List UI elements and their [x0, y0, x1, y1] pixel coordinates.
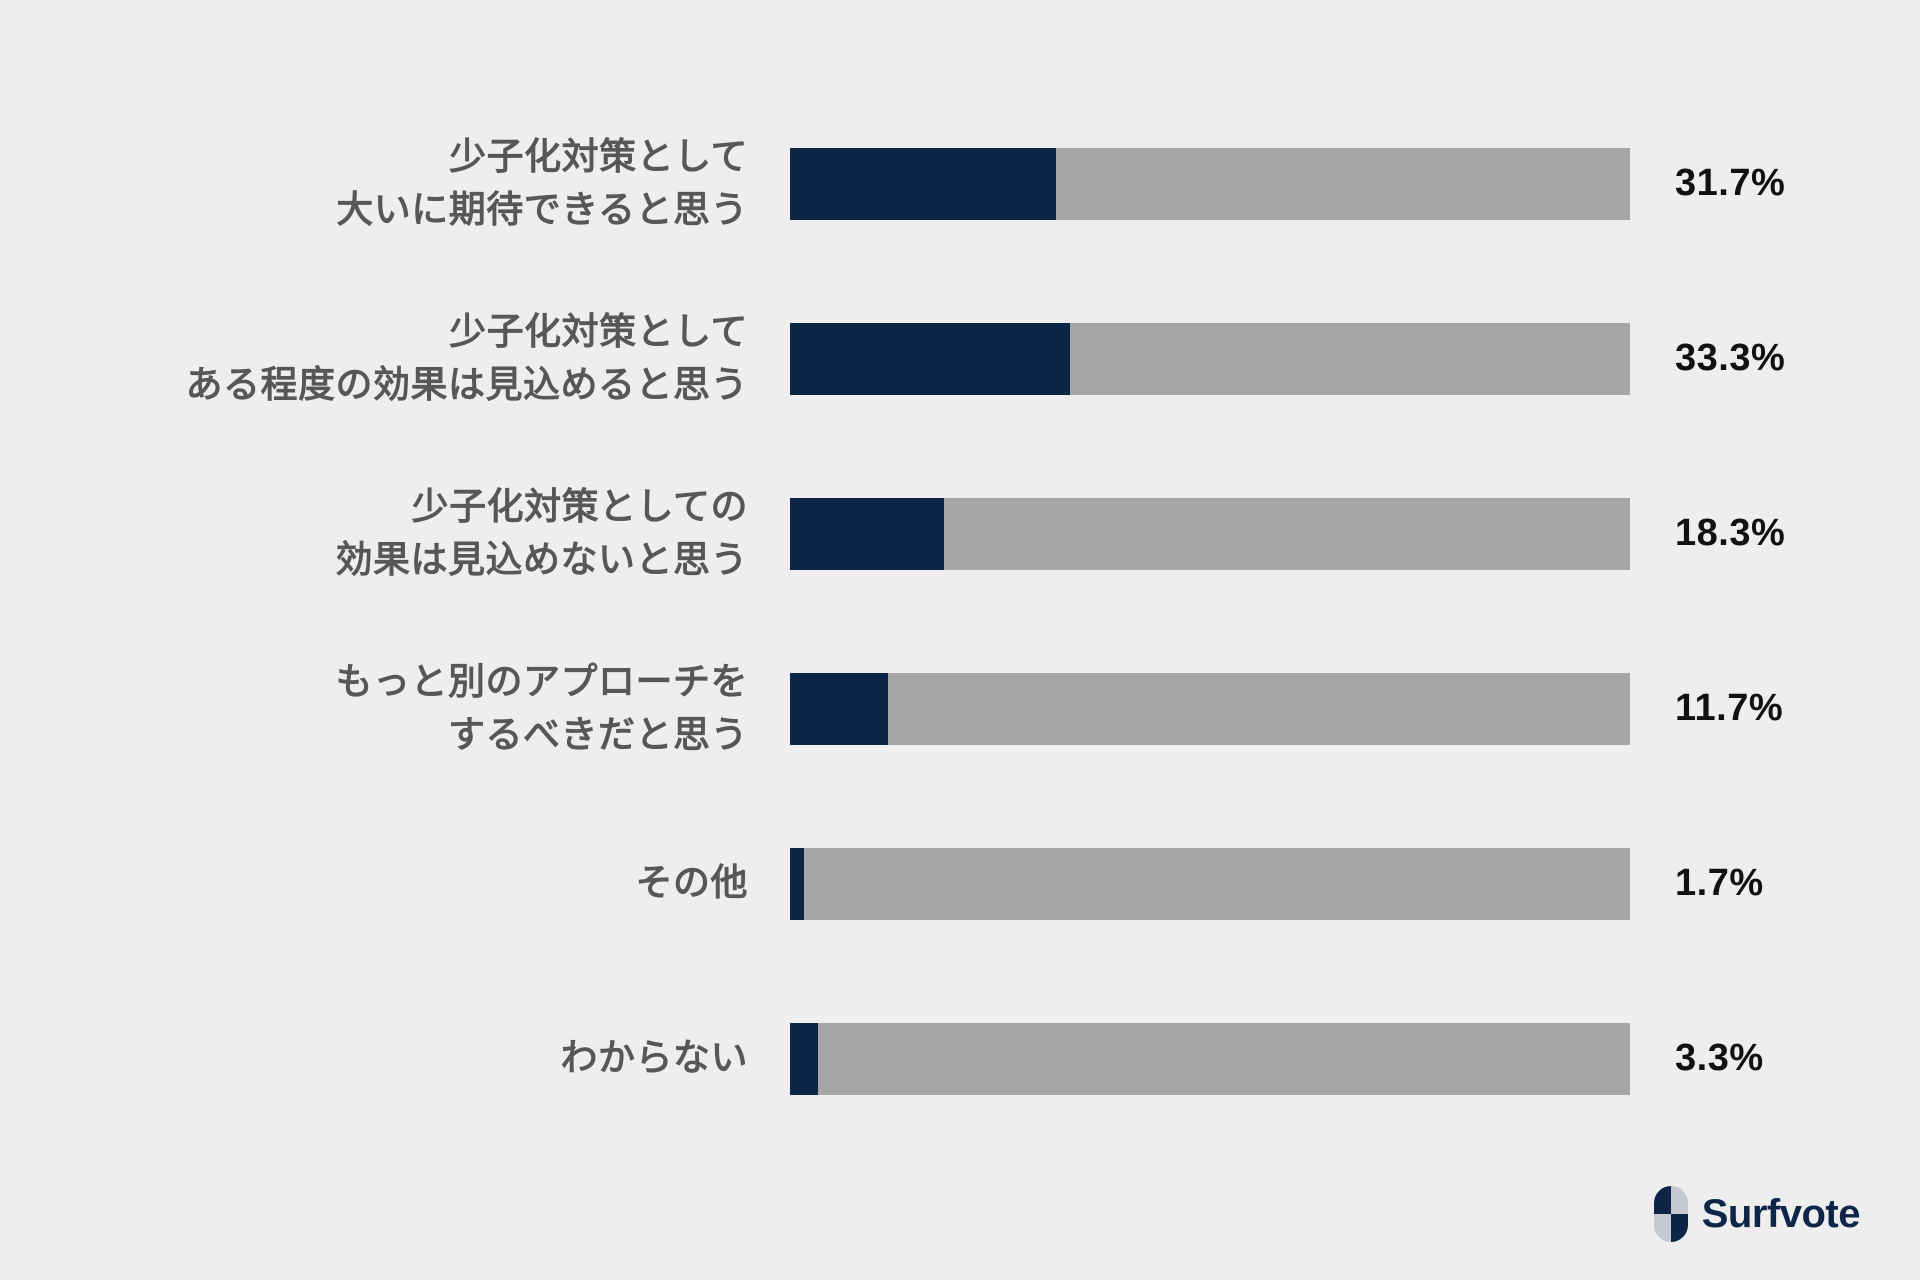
category-label: その他	[0, 857, 790, 910]
bar-area	[790, 673, 1630, 745]
bar-fill	[790, 498, 944, 570]
bar-fill	[790, 1023, 818, 1095]
bar-track	[790, 673, 1630, 745]
logo-quadrant-top-left	[1654, 1186, 1671, 1214]
bar-area	[790, 148, 1630, 220]
logo-quadrant-bottom-right	[1671, 1214, 1688, 1242]
category-label: もっと別のアプローチを するべきだと思う	[0, 656, 790, 761]
chart-row: もっと別のアプローチを するべきだと思う 11.7%	[0, 621, 1920, 796]
bar-fill	[790, 323, 1070, 395]
bar-area	[790, 1023, 1630, 1095]
bar-fill	[790, 848, 804, 920]
value-label: 33.3%	[1675, 337, 1785, 380]
bar-area	[790, 848, 1630, 920]
brand-name: Surfvote	[1702, 1192, 1860, 1237]
surfvote-mark-icon	[1654, 1186, 1688, 1242]
category-label: わからない	[0, 1032, 790, 1085]
value-label: 31.7%	[1675, 162, 1785, 205]
surfvote-logo: Surfvote	[1654, 1186, 1860, 1242]
chart-rows: 少子化対策として 大いに期待できると思う 31.7% 少子化対策として ある程度…	[0, 96, 1920, 1146]
logo-quadrant-top-right	[1671, 1186, 1688, 1214]
value-label: 11.7%	[1675, 687, 1783, 730]
chart-row: 少子化対策として 大いに期待できると思う 31.7%	[0, 96, 1920, 271]
bar-chart: 少子化対策として 大いに期待できると思う 31.7% 少子化対策として ある程度…	[0, 0, 1920, 1280]
bar-track	[790, 1023, 1630, 1095]
chart-row: 少子化対策としての 効果は見込めないと思う 18.3%	[0, 446, 1920, 621]
value-label: 3.3%	[1675, 1037, 1764, 1080]
bar-fill	[790, 673, 888, 745]
category-label: 少子化対策として 大いに期待できると思う	[0, 131, 790, 236]
logo-quadrant-bottom-left	[1654, 1214, 1671, 1242]
bar-fill	[790, 148, 1056, 220]
chart-row: その他 1.7%	[0, 796, 1920, 971]
bar-area	[790, 323, 1630, 395]
value-label: 1.7%	[1675, 862, 1764, 905]
chart-row: 少子化対策として ある程度の効果は見込めると思う 33.3%	[0, 271, 1920, 446]
category-label: 少子化対策としての 効果は見込めないと思う	[0, 481, 790, 586]
chart-row: わからない 3.3%	[0, 971, 1920, 1146]
category-label: 少子化対策として ある程度の効果は見込めると思う	[0, 306, 790, 411]
bar-area	[790, 498, 1630, 570]
bar-track	[790, 848, 1630, 920]
value-label: 18.3%	[1675, 512, 1785, 555]
